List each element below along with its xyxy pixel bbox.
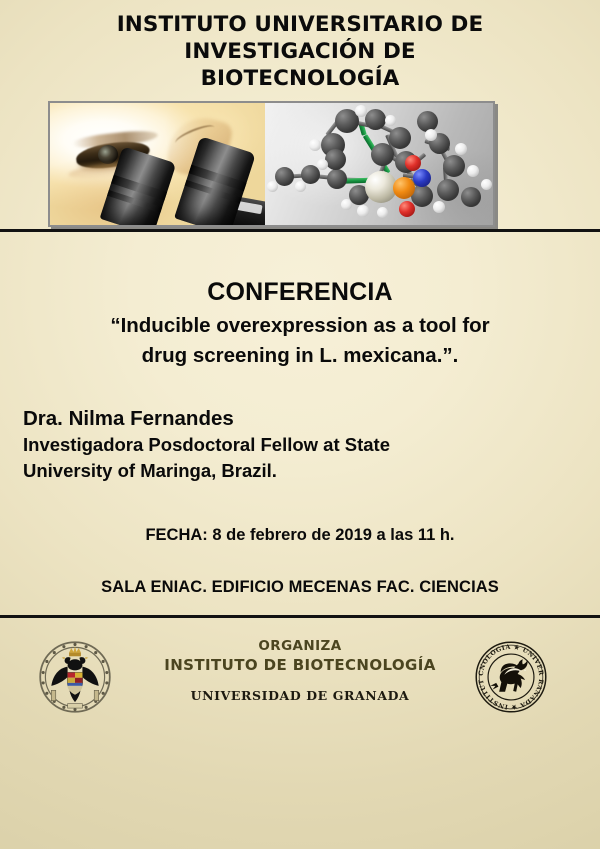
atom-carbon — [389, 127, 411, 149]
atom-hydrogen — [425, 129, 437, 141]
event-date: FECHA: 8 de febrero de 2019 a las 11 h. — [0, 526, 600, 545]
atom-carbon — [443, 155, 465, 177]
atom-phosphorus — [393, 177, 415, 199]
microscope-photo — [50, 103, 293, 225]
atom-oxygen — [399, 201, 415, 217]
divider-bottom — [0, 615, 600, 618]
atom-carbon — [437, 179, 459, 201]
atom-hydrogen — [481, 179, 492, 190]
atom-carbon — [365, 109, 386, 130]
atom-hydrogen — [309, 139, 321, 151]
talk-title: “Inducible overexpression as a tool for … — [30, 311, 570, 371]
universidad-de-granada-seal-icon — [38, 640, 112, 714]
banner-canvas — [50, 103, 493, 225]
atom-carbon — [371, 143, 394, 166]
atom-carbon — [325, 149, 346, 170]
atom-carbon — [275, 167, 294, 186]
speaker-block: Dra. Nilma Fernandes Investigadora Posdo… — [23, 405, 583, 484]
atom-hydrogen — [377, 207, 388, 218]
institute-header: INSTITUTO UNIVERSITARIO DE INVESTIGACIÓN… — [0, 11, 600, 92]
atom-nitrogen — [413, 169, 431, 187]
atom-hydrogen — [467, 165, 479, 177]
molecule-model — [265, 103, 493, 225]
institute-header-line-3: BIOTECNOLOGÍA — [0, 65, 600, 92]
atom-carbon — [327, 169, 347, 189]
atom-hydrogen — [267, 181, 278, 192]
atom-hydrogen — [341, 199, 352, 210]
talk-title-line-1: “Inducible overexpression as a tool for — [30, 311, 570, 341]
atom-hydrogen — [317, 159, 328, 170]
atom-hydrogen — [295, 181, 306, 192]
event-type-label: CONFERENCIA — [0, 278, 600, 307]
atom-carbon — [461, 187, 481, 207]
banner-image — [48, 101, 495, 227]
speaker-affiliation-line-1: Investigadora Posdoctoral Fellow at Stat… — [23, 432, 583, 458]
divider-top — [0, 229, 600, 232]
atom-oxygen — [405, 155, 421, 171]
institute-header-line-1: INSTITUTO UNIVERSITARIO DE — [0, 11, 600, 38]
atom-hydrogen — [433, 201, 445, 213]
atom-hydrogen — [385, 115, 396, 126]
talk-title-line-2: drug screening in L. mexicana.”. — [30, 341, 570, 371]
institute-header-line-2: INVESTIGACIÓN DE — [0, 38, 600, 65]
speaker-affiliation-line-2: University of Maringa, Brazil. — [23, 458, 583, 484]
event-venue: SALA ENIAC. EDIFICIO MECENAS FAC. CIENCI… — [0, 578, 600, 597]
speaker-name: Dra. Nilma Fernandes — [23, 405, 583, 432]
atom-hydrogen — [357, 205, 369, 217]
instituto-biotecnologia-seal-icon: BIOTECNOLOGIA ★ UNIVERSIDAD GRANADA ★ IN… — [474, 640, 548, 714]
atom-hydrogen — [455, 143, 467, 155]
atom-hydrogen — [355, 105, 367, 117]
conference-poster: INSTITUTO UNIVERSITARIO DE INVESTIGACIÓN… — [0, 0, 600, 849]
